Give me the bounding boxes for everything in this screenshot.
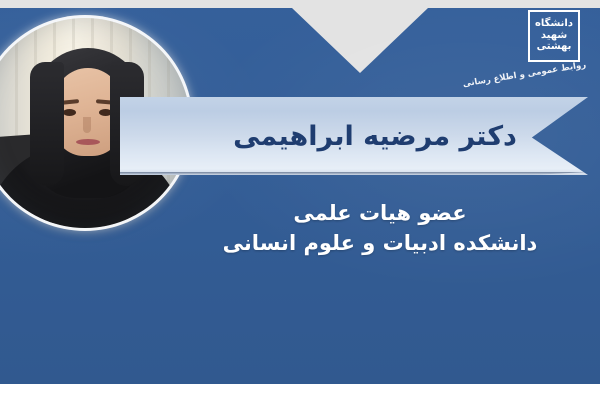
mouth-shape: [76, 139, 100, 145]
eye-left-shape: [63, 109, 76, 116]
logo-line-3: بهشتی: [537, 42, 572, 53]
subtitle-line-position: عضو هیات علمی: [180, 198, 580, 228]
subtitle-block: عضو هیات علمی دانشکده ادبیات و علوم انسا…: [180, 198, 580, 259]
logo-tagline: روابط عمومی و اطلاع رسانی: [492, 60, 586, 85]
university-logo: دانشگاه شهید بهشتی روابط عمومی و اطلاع ر…: [490, 8, 588, 90]
logo-frame-icon: دانشگاه شهید بهشتی: [528, 10, 580, 62]
hijab-drape-left-shape: [30, 62, 64, 186]
faculty-announcement-poster: دکتر مرضیه ابراهیمی عضو هیات علمی دانشکد…: [0, 0, 600, 400]
logo-line-2: شهید: [541, 31, 567, 42]
nose-shape: [83, 117, 91, 133]
logo-calligraphy: دانشگاه شهید بهشتی: [533, 15, 575, 57]
subtitle-line-faculty: دانشکده ادبیات و علوم انسانی: [180, 228, 580, 258]
logo-line-1: دانشگاه: [535, 19, 573, 30]
page-title: دکتر مرضیه ابراهیمی: [190, 105, 560, 167]
bottom-white-margin: [0, 384, 600, 400]
